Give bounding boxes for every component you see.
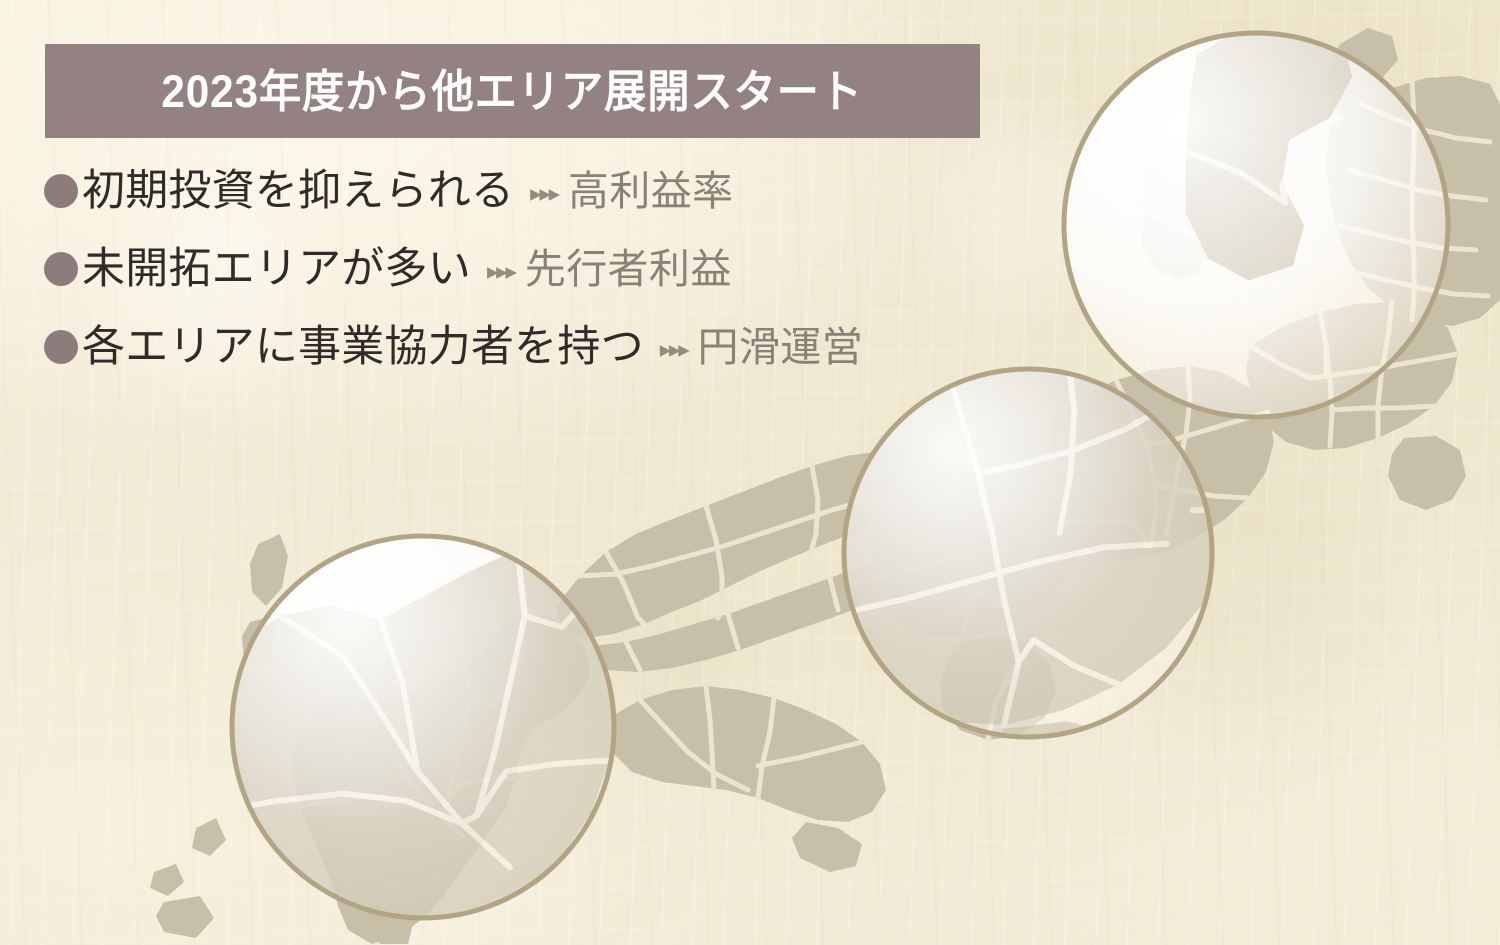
bullet-statement: 初期投資を抑えられる	[82, 170, 514, 213]
page-title: 2023年度から他エリア展開スタート	[162, 69, 864, 114]
slide-root: 2023年度から他エリア展開スタート 初期投資を抑えられる ▸▸▸ 高利益率 未…	[0, 0, 1500, 945]
list-item: 各エリアに事業協力者を持つ ▸▸▸ 円滑運営	[44, 308, 1004, 386]
triple-arrow-icon: ▸▸▸	[530, 182, 558, 205]
list-item: 初期投資を抑えられる ▸▸▸ 高利益率	[44, 152, 1004, 230]
title-banner: 2023年度から他エリア展開スタート	[45, 44, 980, 138]
triple-arrow-icon: ▸▸▸	[660, 338, 688, 361]
triple-arrow-icon: ▸▸▸	[487, 260, 515, 283]
bullet-benefit: 先行者利益	[525, 249, 732, 290]
bullet-benefit: 円滑運営	[698, 327, 864, 368]
japan-map	[0, 0, 1500, 945]
bullet-statement: 各エリアに事業協力者を持つ	[82, 326, 644, 369]
benefit-bullet-list: 初期投資を抑えられる ▸▸▸ 高利益率 未開拓エリアが多い ▸▸▸ 先行者利益 …	[44, 152, 1004, 386]
bullet-benefit: 高利益率	[568, 171, 734, 212]
list-item: 未開拓エリアが多い ▸▸▸ 先行者利益	[44, 230, 1004, 308]
bullet-statement: 未開拓エリアが多い	[82, 248, 471, 291]
bullet-dot-icon	[44, 330, 78, 364]
magnifier-lens-chubu	[0, 0, 1500, 945]
bullet-dot-icon	[44, 174, 78, 208]
bullet-dot-icon	[44, 252, 78, 286]
